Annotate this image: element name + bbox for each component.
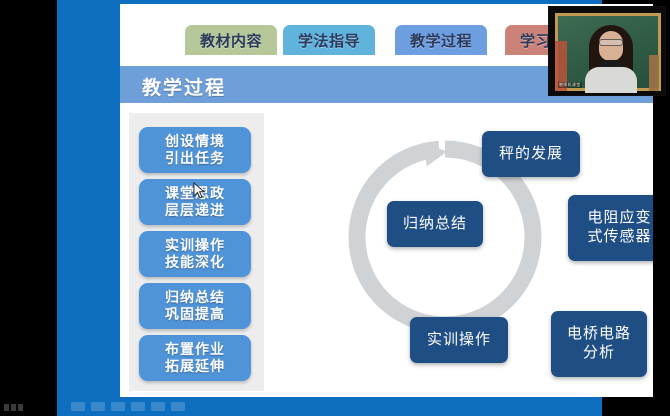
taskbar-item-3[interactable] [111,402,125,411]
mouse-cursor [193,182,205,200]
cycle-node-2[interactable]: 电阻应变 式传感器 [568,195,653,261]
cycle-node-1[interactable]: 秤的发展 [482,131,580,177]
step-line-2: 层层递进 [165,202,225,219]
step-item-5[interactable]: 布置作业 拓展延伸 [139,335,251,381]
step-line-1: 实训操作 [165,237,225,254]
taskbar-item-1[interactable] [71,402,85,411]
glasses-icon [599,39,623,46]
step-line-1: 布置作业 [165,341,225,358]
cycle-node-line-1: 秤的发展 [499,145,563,164]
desktop-corner-icons [4,404,23,411]
webcam-video-overlay[interactable]: 教师机课堂 [548,6,666,96]
step-line-2: 引出任务 [165,150,225,167]
presenter-torso [585,67,637,93]
tab-study-guidance[interactable]: 学法指导 [283,25,375,55]
cycle-node-line-1: 电桥电路 [567,325,631,344]
tab-label: 教材内容 [200,30,262,51]
cycle-node-line-2: 分析 [583,344,615,363]
cycle-node-line-2: 式传感器 [587,228,651,247]
shared-screen-window: 教材内容 学法指导 教学过程 学习资源 教学过程 [57,0,602,416]
page-title: 教学过程 [142,73,226,100]
step-item-3[interactable]: 实训操作 技能深化 [139,231,251,277]
taskbar-item-4[interactable] [131,402,145,411]
tab-teaching-process[interactable]: 教学过程 [395,25,487,55]
screen-root: 教材内容 学法指导 教学过程 学习资源 教学过程 [0,0,670,416]
tab-label: 教学过程 [410,30,472,51]
cycle-node-line-1: 归纳总结 [403,215,467,234]
step-line-2: 拓展延伸 [165,358,225,375]
step-line-2: 技能深化 [165,254,225,271]
desktop-icon-3 [18,404,23,411]
taskbar-item-2[interactable] [91,402,105,411]
desktop-icon-2 [11,404,16,411]
room-wall-right [649,55,659,91]
teaching-step-panel: 创设情境 引出任务 课堂思政 层层递进 实训操作 技能深化 归纳总结 巩固提高 [129,113,264,391]
desktop-icon-1 [4,404,9,411]
taskbar[interactable] [57,397,602,416]
cycle-diagram: 秤的发展 电阻应变 式传感器 电桥电路 分析 实训操作 归纳总结 [275,103,653,397]
cycle-node-4[interactable]: 实训操作 [410,317,508,363]
cycle-node-5[interactable]: 归纳总结 [387,201,483,247]
step-line-1: 创设情境 [165,133,225,150]
tab-label: 学法指导 [298,30,360,51]
step-line-2: 巩固提高 [165,306,225,323]
step-item-1[interactable]: 创设情境 引出任务 [139,127,251,173]
presenter-face [599,31,623,61]
cycle-node-line-1: 实训操作 [427,331,491,350]
step-line-1: 归纳总结 [165,289,225,306]
tab-teaching-material[interactable]: 教材内容 [185,25,277,55]
step-item-4[interactable]: 归纳总结 巩固提高 [139,283,251,329]
taskbar-item-6[interactable] [171,402,185,411]
cycle-node-line-1: 电阻应变 [587,209,651,228]
taskbar-item-5[interactable] [151,402,165,411]
slide-body: 创设情境 引出任务 课堂思政 层层递进 实训操作 技能深化 归纳总结 巩固提高 [120,103,653,397]
webcam-label: 教师机课堂 [558,82,582,88]
cycle-node-3[interactable]: 电桥电路 分析 [551,311,647,377]
